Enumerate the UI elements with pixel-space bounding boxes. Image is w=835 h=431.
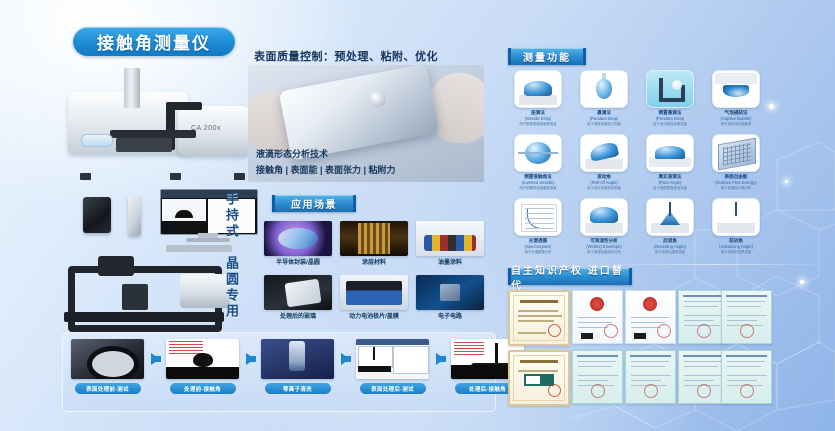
application-label: 电子电路: [416, 311, 484, 320]
function-item[interactable]: 前进角 (Advancing Angle) 用于动态前进角测量: [706, 198, 766, 260]
wafer-icon: [264, 221, 332, 256]
software-monitor: [160, 189, 256, 243]
main-instrument-photo: CA 200x: [58, 62, 254, 180]
workflow-step-pill: 表面处理后-测试: [360, 383, 426, 394]
function-name-en: (Advancing Angle): [706, 244, 766, 249]
certificates-header-text: 自主知识产权 进口替代: [511, 262, 629, 292]
function-desc: 用于表面能计算分析: [706, 186, 766, 190]
function-desc: 用于反向悬挂液滴测量: [640, 122, 700, 126]
surface-energy-icon: [712, 134, 760, 172]
function-item[interactable]: 表面自由能 (Surface Free Energy) 用于表面能计算分析: [706, 134, 766, 196]
certificates-header: 自主知识产权 进口替代: [508, 268, 632, 285]
function-name-en: (Wetting Envelope): [574, 244, 634, 249]
measurement-functions-grid: 座滴法 (Sessile Drop) 用于固体表面接触角测量 悬滴法 (Pend…: [508, 70, 770, 260]
workflow-steps: 表面处理前-测试 处理前-接触角 等离子清洗: [71, 339, 524, 394]
certificate-patent[interactable]: [721, 290, 772, 344]
workflow-step-label: 表面处理后-测试: [371, 385, 414, 393]
surface-before-photo: [71, 339, 144, 379]
wafer-center-stage: [122, 284, 148, 310]
function-item[interactable]: 后退角 (Receding Angle) 用于动态后退角测量: [640, 198, 700, 260]
function-name-en: (Sessile Drop): [508, 116, 568, 121]
workflow-section: 表面处理前-测试 处理前-接触角 等离子清洗: [62, 332, 496, 412]
instrument-stage-lower: [116, 138, 172, 152]
wafer-label: 晶圆专用: [222, 256, 241, 320]
arrow-right-icon: [334, 339, 356, 379]
certificate-patent[interactable]: [625, 350, 676, 404]
instrument-column: [124, 68, 140, 108]
plasma-cleaning-photo: [261, 339, 334, 379]
arrow-right-icon: [144, 339, 166, 379]
instrument-arm-top: [166, 102, 202, 110]
workflow-step[interactable]: 表面处理前-测试: [71, 339, 144, 394]
pendant-drop-icon: [580, 70, 628, 108]
sessile-drop-icon: [514, 70, 562, 108]
certificate-patent[interactable]: [572, 290, 623, 344]
instrument-logo: [81, 134, 113, 147]
function-name-en: (Spectrogram): [508, 244, 568, 249]
function-item[interactable]: 座滴法 (Sessile Drop) 用于固体表面接触角测量: [508, 70, 568, 132]
page-title: 接触角测量仪: [73, 27, 235, 56]
workflow-step-label: 处理前-接触角: [184, 385, 221, 393]
wafer-head: [98, 256, 134, 276]
surface-quality-panel: 表面质量控制：预处理、粘附、优化 液滴形态分析技术 接触角 | 表面能 | 表面…: [248, 48, 484, 182]
instrument-foot: [234, 173, 245, 180]
function-name-en: (Inverted Sessile): [508, 180, 568, 185]
application-item[interactable]: 电子电路: [416, 275, 484, 323]
function-item[interactable]: 光谱透图 (Spectrogram) 用于光谱数据分析: [508, 198, 568, 260]
arrow-right-icon: [429, 339, 451, 379]
surface-quality-title: 表面质量控制：预处理、粘附、优化: [254, 48, 438, 64]
function-desc: 用于浸没体系接触角: [706, 122, 766, 126]
application-label: 处理后的玻璃: [264, 311, 332, 320]
measurement-functions-header: 测量功能: [508, 48, 586, 65]
coating-icon: [340, 221, 408, 256]
application-item[interactable]: 涂层材料: [340, 221, 408, 269]
keyboard: [166, 245, 232, 252]
certificate-patent[interactable]: [572, 350, 623, 404]
applications-grid: 半导体封装/晶圆 涂层材料 油墨涂料 处理后的玻璃 动力电池极片/盖膜 电子电路: [264, 221, 484, 325]
divider-line: [600, 264, 830, 265]
workflow-step-pill: 表面处理前-测试: [75, 383, 141, 394]
application-item[interactable]: 半导体封装/晶圆: [264, 221, 332, 269]
glass-icon: [264, 275, 332, 310]
application-label: 涂层材料: [340, 257, 408, 266]
droplet-preview: [175, 210, 193, 218]
workflow-step-pill: 处理前-接触角: [170, 383, 236, 394]
workflow-step[interactable]: 表面处理后-测试: [356, 339, 429, 394]
function-item[interactable]: 真实液滴法 (Pool Angle) 用于粗糙表面液池测量: [640, 134, 700, 196]
certificate-award[interactable]: [508, 350, 570, 406]
instrument-foot: [170, 173, 181, 180]
function-desc: 用于动态前进角测量: [706, 250, 766, 254]
glow-dot: [800, 280, 804, 284]
function-desc: 用于固体表面接触角测量: [508, 122, 568, 126]
function-desc: 用于疏水表面滚动测量: [574, 186, 634, 190]
surface-after-photo: [356, 339, 429, 379]
handheld-device-black: [83, 197, 111, 233]
workflow-step-label: 等离子清洗: [283, 385, 312, 393]
advancing-angle-icon: [712, 198, 760, 236]
spectrogram-icon: [514, 198, 562, 236]
measurement-functions-section: 测量功能 座滴法 (Sessile Drop) 用于固体表面接触角测量 悬滴法 …: [508, 48, 770, 258]
workflow-step[interactable]: 等离子清洗: [261, 339, 334, 394]
handheld-device-slim: [128, 196, 141, 236]
application-label: 半导体封装/晶圆: [264, 257, 332, 266]
application-label: 动力电池极片/盖膜: [340, 311, 408, 320]
pool-angle-icon: [646, 134, 694, 172]
poster-canvas: 接触角测量仪 CA 200x 手持式 晶: [0, 0, 835, 431]
instrument-stage: [110, 130, 196, 138]
applications-header: 应用场景: [272, 195, 356, 212]
workflow-step-label: 处理后-接触角: [469, 385, 506, 393]
function-desc: 用于倒置样品接触角测量: [508, 186, 568, 190]
workflow-step[interactable]: 处理前-接触角: [166, 339, 239, 394]
handheld-label: 手持式: [222, 192, 241, 240]
inverted-sessile-icon: [514, 134, 562, 172]
glow-dot: [785, 180, 788, 183]
application-label: 油墨涂料: [416, 257, 484, 266]
instrument-foot: [80, 173, 91, 180]
arrow-right-icon: [239, 339, 261, 379]
applications-header-text: 应用场景: [291, 196, 337, 211]
certificates-section: 自主知识产权 进口替代: [508, 268, 770, 408]
function-item[interactable]: 气泡捕获法 (Captive Bubble) 用于浸没体系接触角: [706, 70, 766, 132]
function-desc: 用于光谱数据分析: [508, 250, 568, 254]
surface-quality-image: 液滴形态分析技术 接触角 | 表面能 | 表面张力 | 粘附力: [248, 65, 484, 182]
certificate-award[interactable]: [508, 290, 570, 346]
function-item[interactable]: 悬滴法 (Pendant Drop) 用于液体表面张力测量: [574, 70, 634, 132]
application-item[interactable]: 动力电池极片/盖膜: [340, 275, 408, 323]
function-item[interactable]: 可润湿性分析 (Wetting Envelope) 用于润湿包络曲线分析: [574, 198, 634, 260]
application-item[interactable]: 油墨涂料: [416, 221, 484, 269]
wetting-envelope-icon: [580, 198, 628, 236]
ink-icon: [416, 221, 484, 256]
function-item[interactable]: 倒置接触角法 (Inverted Sessile) 用于倒置样品接触角测量: [508, 134, 568, 196]
function-name-en: (Receding Angle): [640, 244, 700, 249]
camera-lens-icon: [369, 90, 388, 109]
wafer-base: [64, 312, 224, 322]
function-desc: 用于液体表面张力测量: [574, 122, 634, 126]
application-item[interactable]: 处理后的玻璃: [264, 275, 332, 323]
instrument-model-label: CA 200x: [191, 125, 221, 132]
measurement-functions-header-text: 测量功能: [523, 49, 571, 64]
function-desc: 用于动态后退角测量: [640, 250, 700, 254]
certificates-grid: [508, 290, 770, 408]
certificate-patent[interactable]: [625, 290, 676, 344]
workflow-step-label: 表面处理前-测试: [86, 385, 129, 393]
page-title-text: 接触角测量仪: [97, 29, 211, 54]
function-desc: 用于润湿包络曲线分析: [574, 250, 634, 254]
battery-icon: [340, 275, 408, 310]
receding-angle-icon: [646, 198, 694, 236]
function-name-en: (Pendant Drop): [640, 116, 700, 121]
function-name-en: (Pool Angle): [640, 180, 700, 185]
inverted-pendant-icon: [646, 70, 694, 108]
monitor-screen: [160, 189, 258, 235]
software-toolbar: [161, 190, 257, 198]
metrics-line: 接触角 | 表面能 | 表面张力 | 粘附力: [256, 163, 396, 176]
captive-bubble-icon: [712, 70, 760, 108]
pcb-icon: [416, 275, 484, 310]
function-name-en: (Pendant Drop): [574, 116, 634, 121]
contact-angle-before-photo: [166, 339, 239, 379]
applications-section: 应用场景 半导体封装/晶圆 涂层材料 油墨涂料 处理后的玻璃 动力电池极片/盖膜: [264, 195, 484, 325]
function-item[interactable]: 滚动角 (Roll-off Angle) 用于疏水表面滚动测量: [574, 134, 634, 196]
certificate-patent[interactable]: [721, 350, 772, 404]
function-name-en: (Roll-off Angle): [574, 180, 634, 185]
function-name-en: (Surface Free Energy): [706, 180, 766, 185]
sample-baseline: [162, 221, 206, 233]
function-desc: 用于粗糙表面液池测量: [640, 186, 700, 190]
roll-off-angle-icon: [580, 134, 628, 172]
hand-right: [430, 73, 484, 143]
droplet-analysis-subtitle: 液滴形态分析技术: [256, 147, 328, 160]
workflow-step-pill: 等离子清洗: [265, 383, 331, 394]
function-item[interactable]: 倒置悬滴法 (Pendant Drop) 用于反向悬挂液滴测量: [640, 70, 700, 132]
function-name-en: (Captive Bubble): [706, 116, 766, 121]
